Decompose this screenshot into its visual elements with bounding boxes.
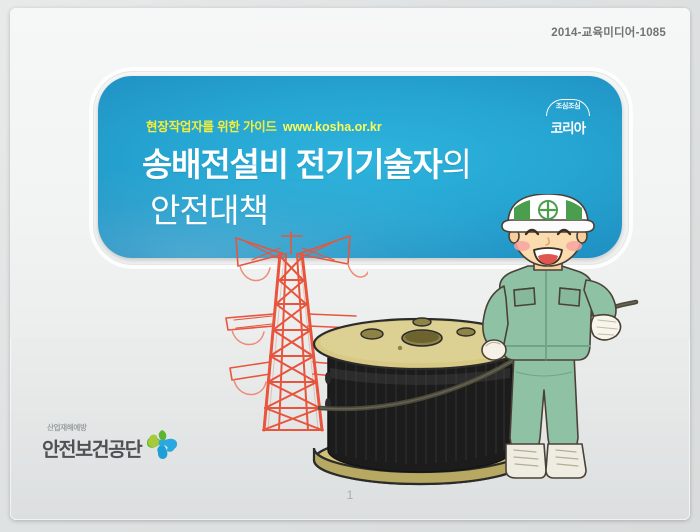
- safety-korea-arc-text: 조심조심: [540, 98, 596, 118]
- page-title-line-1: 송배전설비 전기기술자의: [142, 138, 471, 186]
- page-title-line-2: 안전대책: [150, 184, 268, 232]
- kosha-website-url: www.kosha.or.kr: [283, 120, 382, 134]
- worker-character-illustration: [478, 194, 626, 490]
- safety-korea-main-text: 코리아: [540, 117, 596, 137]
- slide-canvas: 2014-교육미디어-1085 현장작업자를 위한 가이드www.kosha.o…: [10, 8, 690, 520]
- safety-korea-logo: 조심조심 코리아: [540, 98, 596, 140]
- banner-subtitle: 현장작업자를 위한 가이드www.kosha.or.kr: [146, 116, 382, 135]
- document-code: 2014-교육미디어-1085: [551, 24, 666, 40]
- page-title-line-1-light: 의: [442, 146, 471, 183]
- kosha-organisation-logo: 산업재해예방 안전보건공단: [40, 420, 200, 468]
- banner-subtitle-text: 현장작업자를 위한 가이드: [146, 120, 277, 134]
- kosha-logo-name: 안전보건공단: [42, 433, 141, 462]
- page-number: 1: [10, 488, 690, 502]
- kosha-pinwheel-icon: [143, 424, 181, 462]
- page-background: 2014-교육미디어-1085 현장작업자를 위한 가이드www.kosha.o…: [0, 0, 700, 532]
- page-title-line-1-bold: 송배전설비 전기기술자: [142, 146, 442, 183]
- kosha-logo-tagline: 산업재해예방: [47, 422, 87, 433]
